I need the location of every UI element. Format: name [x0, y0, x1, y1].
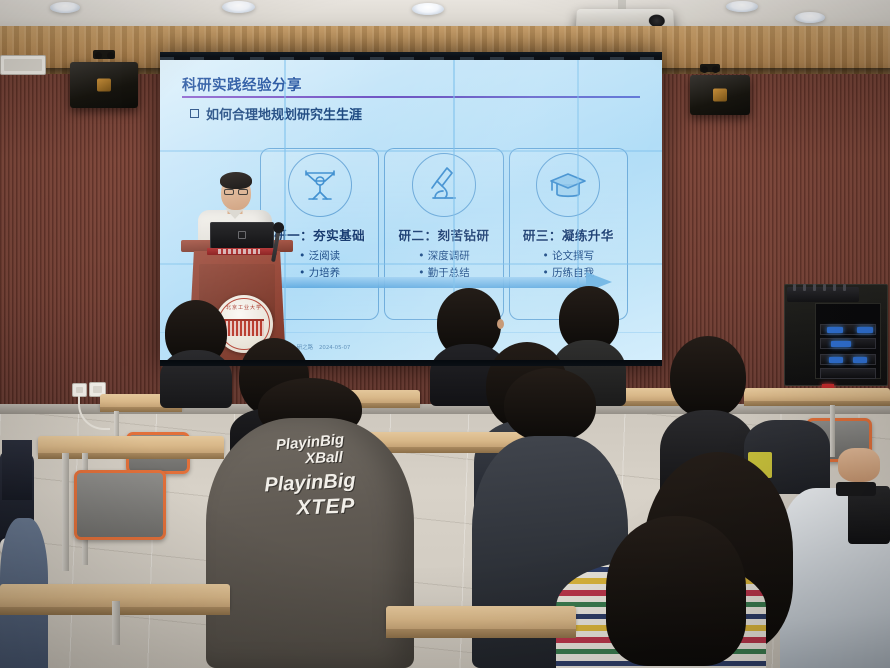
head	[670, 336, 746, 418]
hand	[838, 448, 880, 482]
slide-subtitle: 如何合理地规划研究生生涯	[206, 104, 362, 123]
presenter-laptop[interactable]	[210, 222, 274, 255]
lecture-hall-photo: 科研实践经验分享 如何合理地规划研究生生涯	[0, 0, 890, 668]
speaker-port	[97, 79, 111, 92]
desk-edge	[386, 629, 576, 638]
arrow-shaft	[256, 277, 586, 288]
wall-plate	[0, 55, 46, 75]
speaker-knob	[712, 66, 719, 73]
head	[606, 516, 746, 666]
slide-subtitle-row: 如何合理地规划研究生生涯	[190, 104, 362, 123]
desk-surface	[38, 436, 224, 454]
ceiling-light	[726, 1, 758, 12]
unit-display	[857, 327, 873, 333]
speaker-knob	[107, 52, 114, 59]
ceiling-light	[412, 3, 444, 15]
rack-interior	[815, 303, 881, 379]
student-desk	[744, 388, 890, 422]
wall-speaker	[690, 75, 750, 115]
stretching-person-icon	[288, 153, 352, 217]
ceiling-light	[795, 12, 825, 23]
student-desk	[386, 606, 576, 646]
speaker-port	[713, 89, 727, 102]
column-2-heading: 研二：刻苦钻研	[385, 225, 502, 244]
ceiling-light	[222, 1, 255, 13]
unit-display	[831, 341, 851, 347]
desk-surface	[386, 606, 576, 630]
rack-unit	[820, 338, 876, 349]
bullet: 深度调研	[385, 248, 502, 265]
presenter-hair	[220, 172, 252, 189]
footer-right: 2024-05-07	[319, 345, 350, 352]
head	[504, 368, 596, 442]
audience-member-foreground: PlayinBig XBall PlayinBig XTEP	[206, 392, 414, 668]
speaker-knob	[701, 66, 708, 73]
wall-power-outlet	[72, 383, 87, 397]
wristwatch	[836, 482, 876, 496]
wall-speaker	[70, 62, 138, 108]
desk-edge	[744, 401, 890, 406]
speaker-knob	[95, 52, 102, 59]
led-tile-hardware	[160, 57, 662, 60]
podium-nameplate	[218, 249, 260, 254]
ear	[497, 319, 504, 329]
rack-unit	[820, 354, 876, 365]
unit-display	[827, 327, 843, 333]
av-equipment-rack	[784, 284, 888, 386]
column-3-heading: 研三：凝练升华	[510, 225, 627, 244]
title-underline	[182, 96, 640, 98]
screen-bezel-bottom	[160, 360, 662, 366]
ceiling-light	[50, 2, 80, 13]
unit-display	[853, 357, 867, 363]
desk-leg	[112, 601, 120, 645]
laptop-logo	[238, 231, 246, 239]
microscope-icon	[412, 153, 476, 217]
lecture-chair[interactable]	[74, 470, 166, 540]
audio-mixer	[787, 287, 859, 302]
glasses	[224, 189, 234, 195]
unit-display	[829, 357, 843, 363]
glasses	[238, 189, 248, 195]
desk-surface	[744, 388, 890, 402]
rack-unit	[820, 368, 876, 379]
student-desk	[38, 436, 224, 470]
student-desk	[0, 584, 230, 624]
rack-unit	[820, 324, 876, 335]
desk-leg	[62, 453, 69, 571]
standing-person-leg	[2, 440, 32, 500]
bullet-square-icon	[190, 109, 199, 118]
slide-title: 科研实践经验分享	[182, 74, 302, 95]
audience-member-foreground	[600, 516, 752, 668]
bullet: 论文撰写	[510, 248, 627, 265]
graduation-cap-icon	[536, 153, 600, 217]
chair-back	[74, 470, 166, 540]
